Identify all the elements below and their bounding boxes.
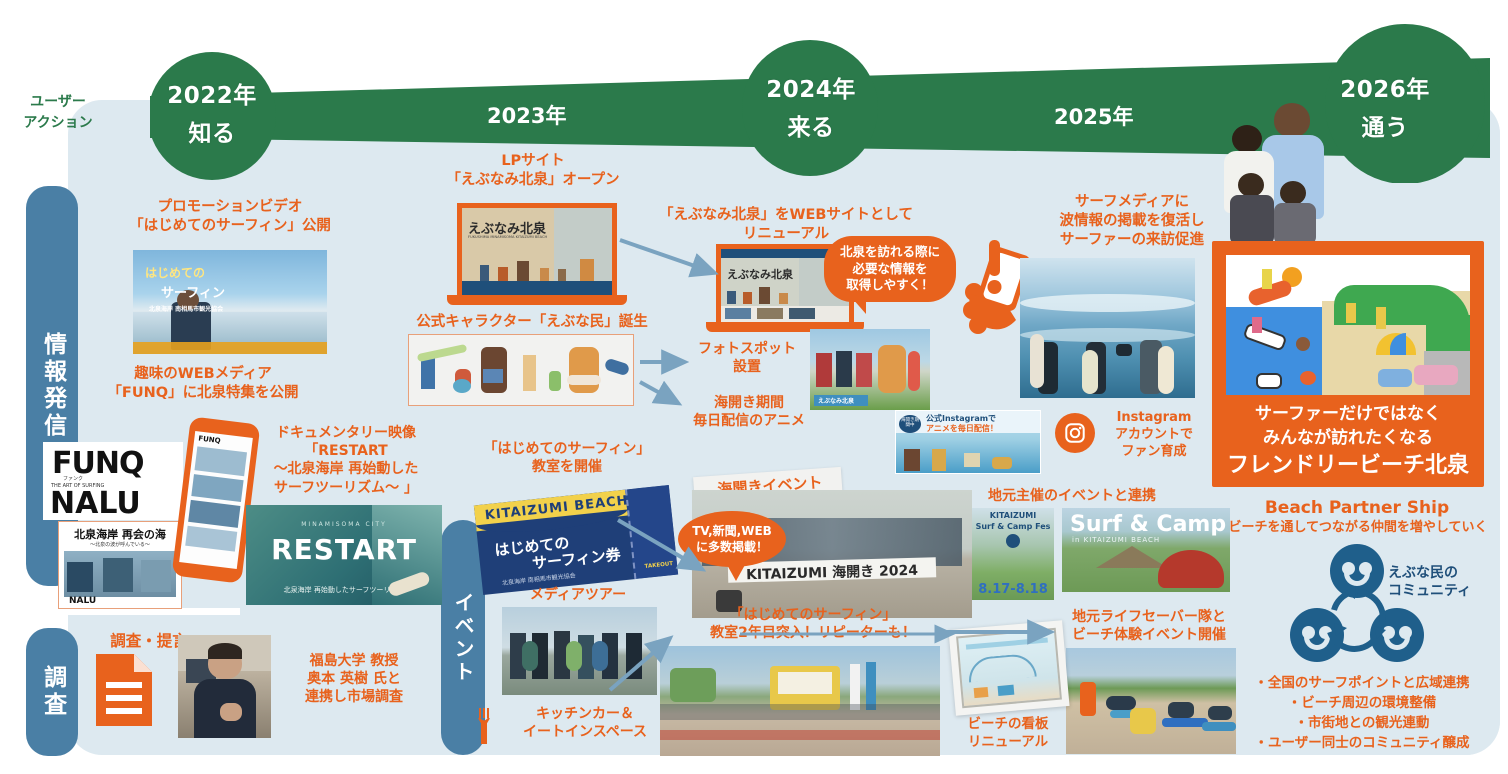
- connector-arrows: [0, 0, 1508, 774]
- infographic-root: 2022年 知る 2023年 2024年 来る 2025年 2026年 通う ユ…: [0, 0, 1508, 774]
- exclamation-icon: [985, 240, 1005, 296]
